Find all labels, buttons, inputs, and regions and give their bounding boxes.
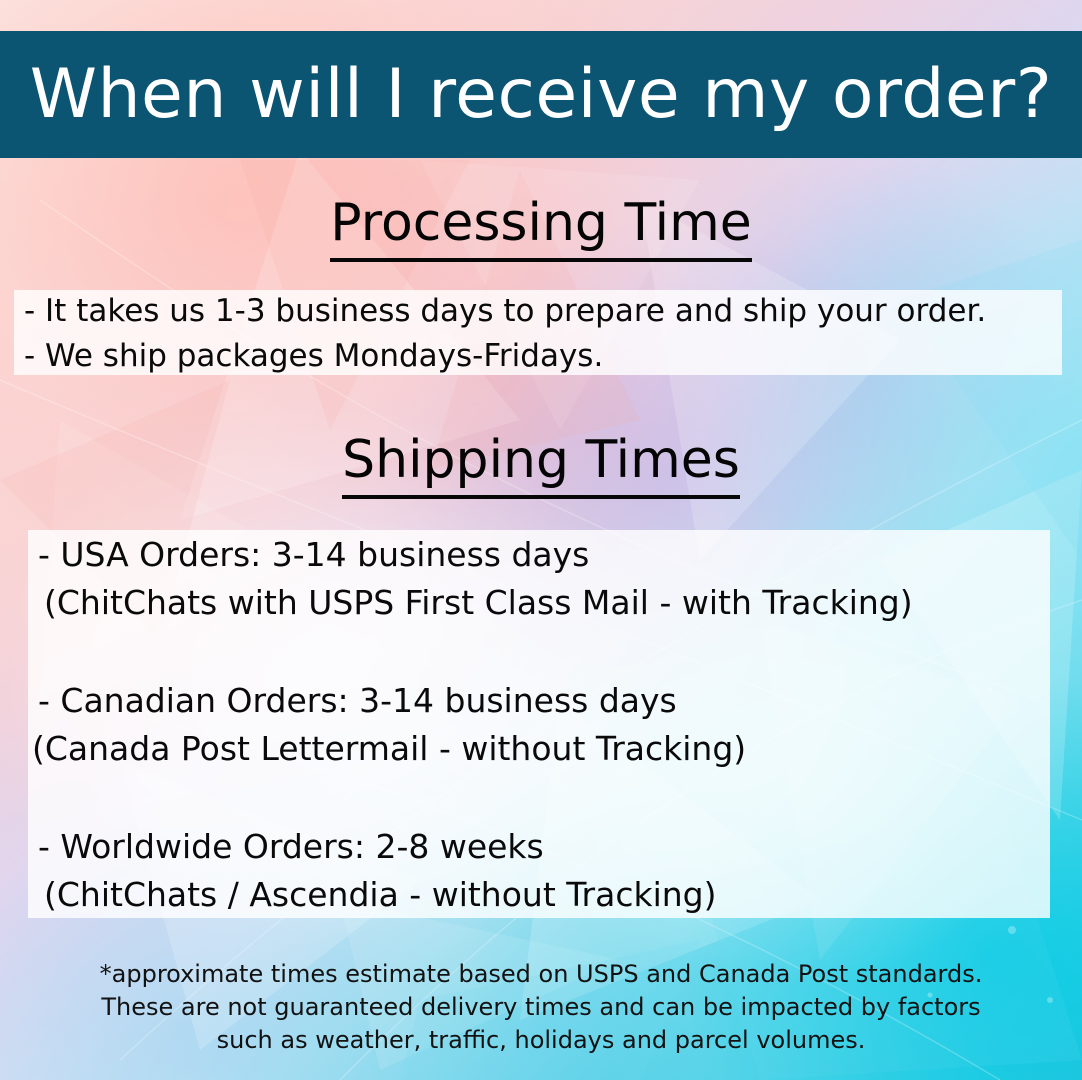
- disclaimer-line-3: such as weather, traffic, holidays and p…: [0, 1024, 1082, 1057]
- shipping-canada-detail: (Canada Post Lettermail - without Tracki…: [32, 732, 746, 765]
- processing-time-line-1: - It takes us 1-3 business days to prepa…: [24, 296, 986, 327]
- shipping-usa-headline: - USA Orders: 3-14 business days: [38, 538, 589, 571]
- shipping-worldwide-detail: (ChitChats / Ascendia - without Tracking…: [44, 878, 717, 911]
- disclaimer-line-2: These are not guaranteed delivery times …: [0, 991, 1082, 1024]
- section-heading-processing-time-text: Processing Time: [330, 193, 751, 262]
- section-heading-shipping-times-text: Shipping Times: [342, 430, 740, 499]
- shipping-worldwide-headline: - Worldwide Orders: 2-8 weeks: [38, 830, 544, 863]
- shipping-info-poster: When will I receive my order? Processing…: [0, 0, 1082, 1080]
- page-title: When will I receive my order?: [30, 61, 1053, 129]
- section-heading-processing-time: Processing Time: [0, 197, 1082, 249]
- shipping-usa-detail: (ChitChats with USPS First Class Mail - …: [44, 586, 913, 619]
- disclaimer: *approximate times estimate based on USP…: [0, 958, 1082, 1057]
- processing-time-line-2: - We ship packages Mondays-Fridays.: [24, 341, 603, 372]
- disclaimer-line-1: *approximate times estimate based on USP…: [0, 958, 1082, 991]
- shipping-canada-headline: - Canadian Orders: 3-14 business days: [38, 684, 677, 717]
- header-banner: When will I receive my order?: [0, 31, 1082, 158]
- section-heading-shipping-times: Shipping Times: [0, 434, 1082, 486]
